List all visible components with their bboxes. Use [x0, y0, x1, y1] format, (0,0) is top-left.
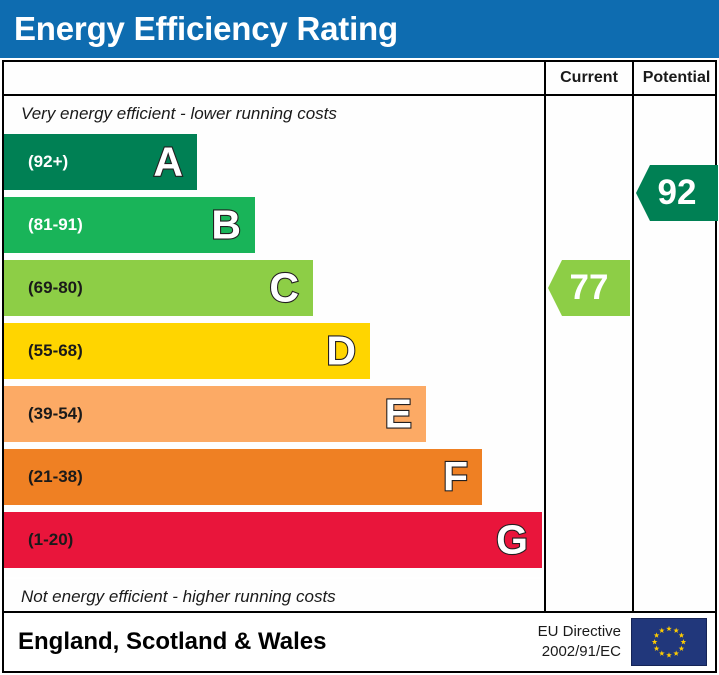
band-range-c: (69-80) — [28, 278, 83, 298]
rating-table: Current Potential Very energy efficient … — [2, 60, 717, 613]
band-range-d: (55-68) — [28, 341, 83, 361]
band-letter-d: D — [326, 331, 356, 372]
column-header-potential: Potential — [634, 62, 719, 94]
band-row-f: (21-38) F — [4, 449, 482, 505]
column-separator-current — [544, 62, 546, 611]
table-header-row: Current Potential — [4, 62, 715, 96]
band-letter-f: F — [443, 457, 468, 498]
band-letter-b: B — [211, 205, 241, 246]
footer-directive: EU Directive 2002/91/EC — [538, 622, 621, 663]
footer-region-label: England, Scotland & Wales — [18, 628, 326, 656]
band-range-g: (1-20) — [28, 530, 73, 550]
eu-flag-icon — [631, 618, 707, 666]
band-letter-a: A — [153, 142, 183, 183]
caption-very-efficient: Very energy efficient - lower running co… — [4, 96, 542, 132]
band-letter-e: E — [385, 394, 412, 435]
band-range-f: (21-38) — [28, 467, 83, 487]
footer-directive-line1: EU Directive — [538, 622, 621, 642]
chart-header: Energy Efficiency Rating — [0, 0, 719, 58]
band-letter-g: G — [496, 520, 528, 561]
band-range-a: (92+) — [28, 152, 68, 172]
band-list: (92+) A (81-91) B (69-80) C (55-68) D (3… — [4, 134, 542, 577]
caption-not-efficient: Not energy efficient - higher running co… — [4, 577, 542, 613]
page-title: Energy Efficiency Rating — [14, 10, 398, 48]
band-row-e: (39-54) E — [4, 386, 426, 442]
band-letter-c: C — [269, 268, 299, 309]
current-rating-arrow: 77 — [548, 260, 630, 316]
band-row-c: (69-80) C — [4, 260, 313, 316]
potential-rating-arrow: 92 — [636, 165, 718, 221]
band-row-d: (55-68) D — [4, 323, 370, 379]
band-row-b: (81-91) B — [4, 197, 255, 253]
column-separator-potential — [632, 62, 634, 611]
band-row-a: (92+) A — [4, 134, 197, 190]
column-header-current: Current — [546, 62, 632, 94]
energy-efficiency-rating-chart: Energy Efficiency Rating Current Potenti… — [0, 0, 719, 675]
band-row-g: (1-20) G — [4, 512, 542, 568]
chart-footer: England, Scotland & Wales EU Directive 2… — [2, 613, 717, 673]
band-range-b: (81-91) — [28, 215, 83, 235]
band-range-e: (39-54) — [28, 404, 83, 424]
footer-directive-line2: 2002/91/EC — [538, 642, 621, 662]
